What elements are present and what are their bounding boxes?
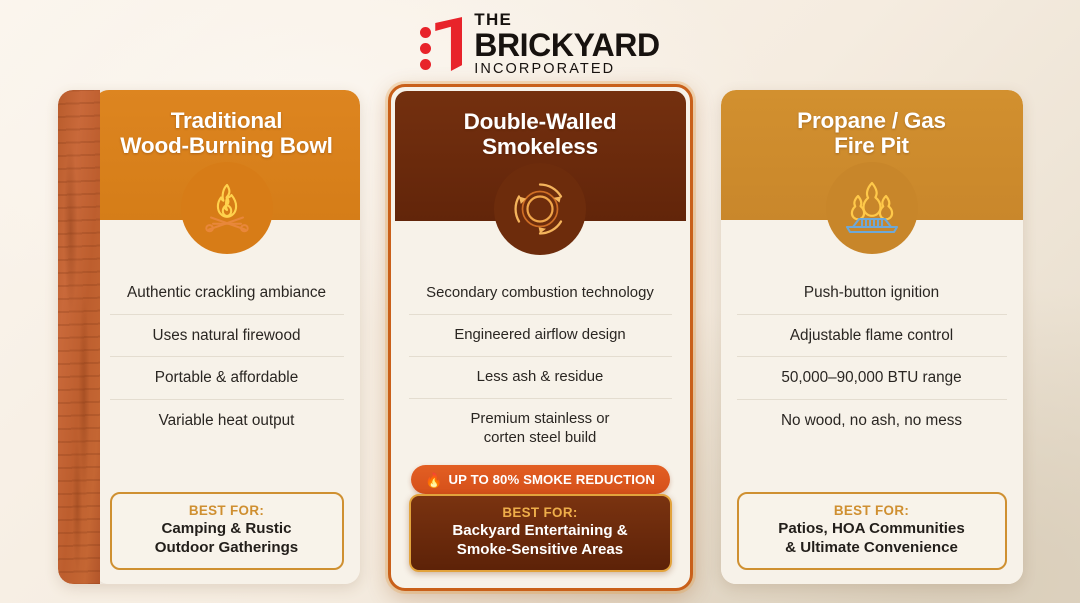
infographic-canvas: THE BRICKYARD INCORPORATED Traditional W…	[0, 0, 1080, 603]
best-for-label: BEST FOR:	[120, 503, 334, 518]
best-for-box: BEST FOR: Backyard Entertaining & Smoke-…	[409, 494, 672, 572]
card-title: Propane / Gas Fire Pit	[735, 108, 1009, 159]
best-for-text: Patios, HOA Communities & Ultimate Conve…	[747, 520, 997, 558]
best-for-box: BEST FOR: Camping & Rustic Outdoor Gathe…	[110, 492, 344, 570]
campfire-icon	[181, 162, 273, 254]
spacer	[737, 441, 1007, 492]
card-title: Traditional Wood-Burning Bowl	[108, 108, 346, 159]
card-header: Traditional Wood-Burning Bowl	[94, 90, 360, 220]
logo-line-incorporated: INCORPORATED	[474, 62, 659, 77]
list-item: No wood, no ash, no mess	[737, 400, 1007, 442]
list-item: Uses natural firewood	[110, 315, 344, 358]
logo-dots-icon	[420, 27, 431, 70]
wood-texture-strip	[58, 90, 100, 584]
list-item: Engineered airflow design	[409, 315, 672, 357]
feature-list: Push-button ignition Adjustable flame co…	[737, 272, 1007, 441]
best-for-label: BEST FOR:	[419, 505, 662, 520]
airflow-circulation-icon	[494, 163, 586, 255]
list-item: Adjustable flame control	[737, 315, 1007, 358]
card-body: Push-button ignition Adjustable flame co…	[721, 220, 1023, 584]
brand-logo: THE BRICKYARD INCORPORATED	[0, 12, 1080, 74]
card-body: Authentic crackling ambiance Uses natura…	[94, 220, 360, 584]
list-item: Variable heat output	[110, 400, 344, 442]
best-for-text: Camping & Rustic Outdoor Gatherings	[120, 520, 334, 558]
card-double-walled-smokeless[interactable]: Double-Walled Smokeless	[388, 84, 693, 591]
list-item: Less ash & residue	[409, 357, 672, 399]
spacer	[110, 441, 344, 492]
logo-line-the: THE	[474, 11, 659, 28]
best-for-box: BEST FOR: Patios, HOA Communities & Ulti…	[737, 492, 1007, 570]
card-traditional-wood-burning-bowl[interactable]: Traditional Wood-Burning Bowl	[58, 90, 360, 584]
feature-list: Secondary combustion technology Engineer…	[409, 273, 672, 459]
feature-list: Authentic crackling ambiance Uses natura…	[110, 272, 344, 441]
brickyard-logo-icon	[420, 14, 465, 72]
card-title: Double-Walled Smokeless	[409, 109, 672, 160]
logo-brick-icon	[435, 17, 462, 71]
card-header: Double-Walled Smokeless	[395, 91, 686, 221]
best-for-label: BEST FOR:	[747, 503, 997, 518]
list-item: Secondary combustion technology	[409, 273, 672, 315]
logo-wordmark: THE BRICKYARD INCORPORATED	[474, 9, 659, 77]
list-item: Premium stainless or corten steel build	[409, 399, 672, 459]
comparison-cards: Traditional Wood-Burning Bowl	[0, 90, 1080, 591]
gas-burner-icon	[826, 162, 918, 254]
list-item: Portable & affordable	[110, 357, 344, 400]
fire-emoji-icon: 🔥	[425, 473, 443, 487]
list-item: Push-button ignition	[737, 272, 1007, 315]
list-item: Authentic crackling ambiance	[110, 272, 344, 315]
card-body: Secondary combustion technology Engineer…	[395, 221, 686, 584]
smoke-reduction-badge: 🔥 UP TO 80% SMOKE REDUCTION	[411, 465, 670, 494]
smoke-reduction-text: UP TO 80% SMOKE REDUCTION	[449, 472, 655, 487]
list-item: 50,000–90,000 BTU range	[737, 357, 1007, 400]
card-header: Propane / Gas Fire Pit	[721, 90, 1023, 220]
best-for-text: Backyard Entertaining & Smoke-Sensitive …	[419, 522, 662, 560]
logo-brand-name: BRICKYARD	[474, 29, 659, 61]
card-propane-gas-fire-pit[interactable]: Propane / Gas Fire Pit	[721, 90, 1023, 584]
